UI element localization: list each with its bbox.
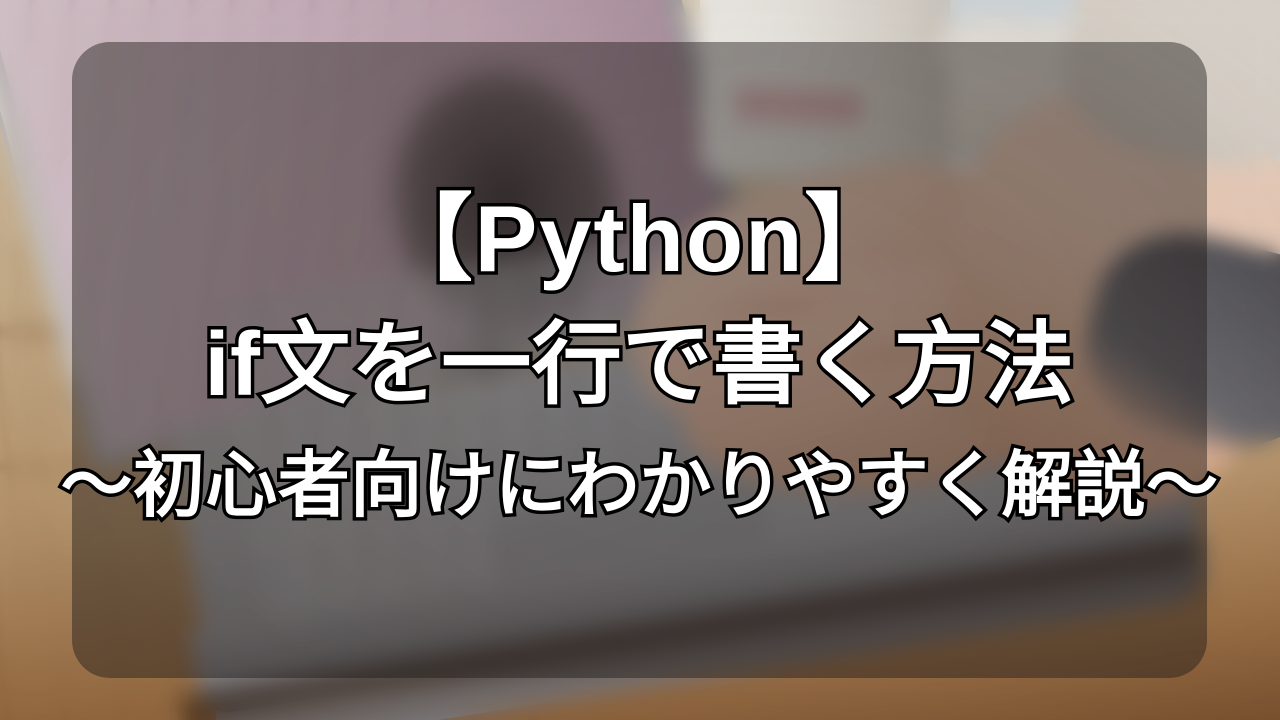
headline-line-2: if文を一行で書く方法 xyxy=(205,315,1075,416)
thumbnail-canvas: 【Python】 if文を一行で書く方法 〜初心者向けにわかりやすく解説〜 xyxy=(0,0,1280,720)
headline-line-1: 【Python】 xyxy=(379,186,901,291)
headline-block: 【Python】 if文を一行で書く方法 〜初心者向けにわかりやすく解説〜 xyxy=(72,42,1207,678)
headline-line-3: 〜初心者向けにわかりやすく解説〜 xyxy=(61,446,1219,527)
